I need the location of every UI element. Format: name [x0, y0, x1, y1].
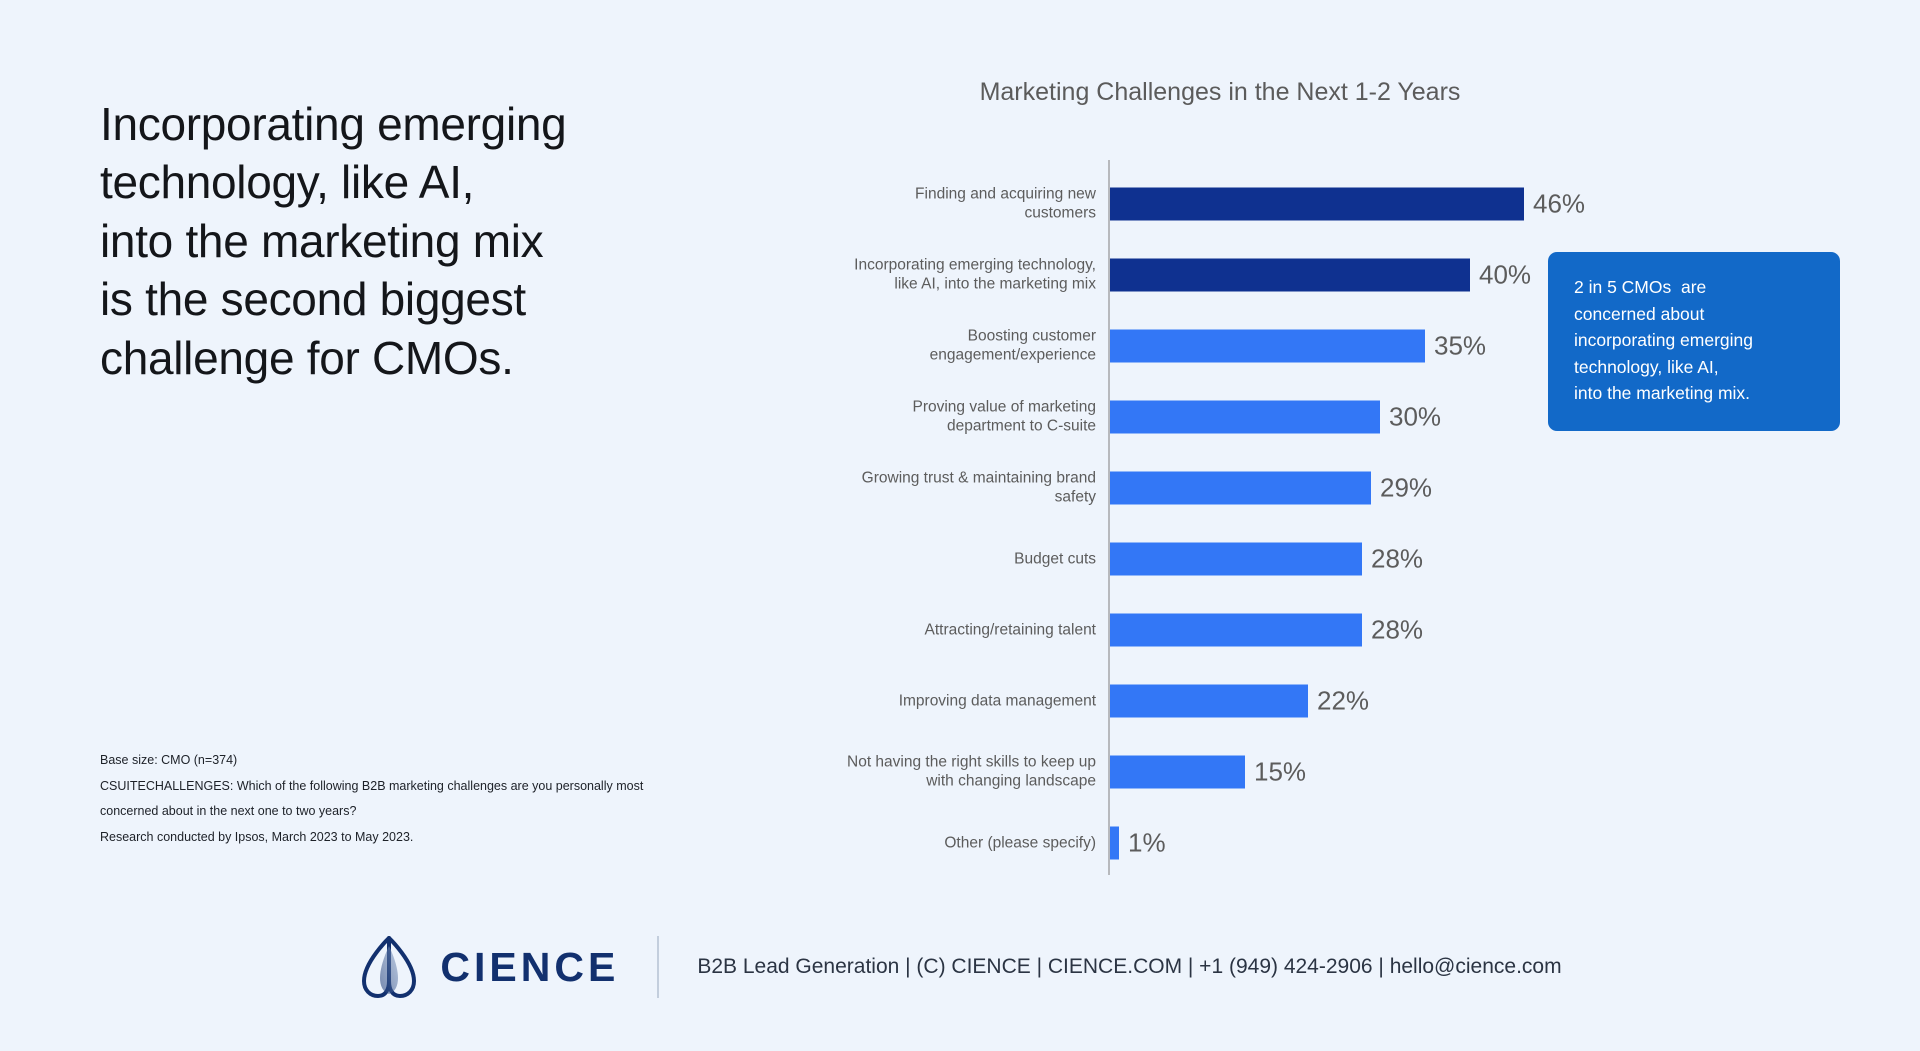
bar-value-label: 30% — [1389, 401, 1441, 432]
bar-category-label: Attracting/retaining talent — [846, 620, 1096, 639]
bar-category-label: Incorporating emerging technology, like … — [846, 255, 1096, 294]
bar-value-label: 28% — [1371, 543, 1423, 574]
bar-value-label: 28% — [1371, 614, 1423, 645]
footnote-question-line-2: concerned about in the next one to two y… — [100, 799, 680, 825]
bar-value-label: 15% — [1254, 756, 1306, 787]
chart-row: Proving value of marketing department to… — [830, 381, 1470, 452]
bar — [1110, 542, 1362, 575]
bar — [1110, 755, 1245, 788]
footnotes: Base size: CMO (n=374) CSUITECHALLENGES:… — [100, 748, 680, 851]
cience-arch-logo-icon — [358, 934, 420, 1000]
footnote-question-line-1: CSUITECHALLENGES: Which of the following… — [100, 774, 680, 800]
chart-row: Budget cuts28% — [830, 523, 1470, 594]
bar — [1110, 471, 1371, 504]
bar — [1110, 613, 1362, 646]
footnote-base-size: Base size: CMO (n=374) — [100, 748, 680, 774]
chart-row: Finding and acquiring new customers46% — [830, 168, 1470, 239]
bar — [1110, 187, 1524, 220]
callout-line-5: into the marketing mix. — [1574, 380, 1816, 407]
chart-row: Boosting customer engagement/experience3… — [830, 310, 1470, 381]
bar-category-label: Not having the right skills to keep up w… — [846, 752, 1096, 791]
bar — [1110, 400, 1380, 433]
bar-value-label: 35% — [1434, 330, 1486, 361]
chart-row: Growing trust & maintaining brand safety… — [830, 452, 1470, 523]
bar — [1110, 684, 1308, 717]
bar — [1110, 826, 1119, 859]
bar-value-label: 29% — [1380, 472, 1432, 503]
footer: CIENCE B2B Lead Generation | (C) CIENCE … — [0, 912, 1920, 1022]
footer-contact-line: B2B Lead Generation | (C) CIENCE | CIENC… — [697, 955, 1561, 979]
chart-row: Incorporating emerging technology, like … — [830, 239, 1470, 310]
bar — [1110, 258, 1470, 291]
bar-value-label: 46% — [1533, 188, 1585, 219]
chart-row: Attracting/retaining talent28% — [830, 594, 1470, 665]
callout-line-2: concerned about — [1574, 301, 1816, 328]
bar-value-label: 1% — [1128, 827, 1166, 858]
cience-logo: CIENCE — [358, 934, 619, 1000]
chart-row: Other (please specify)1% — [830, 807, 1470, 878]
bar-category-label: Other (please specify) — [846, 833, 1096, 852]
callout-line-3: incorporating emerging — [1574, 327, 1816, 354]
bar — [1110, 329, 1425, 362]
bar-category-label: Budget cuts — [846, 549, 1096, 568]
headline-line-4: is the second biggest — [100, 270, 800, 328]
bar-chart: Finding and acquiring new customers46%In… — [830, 160, 1470, 875]
headline: Incorporating emerging technology, like … — [100, 95, 800, 387]
headline-line-3: into the marketing mix — [100, 212, 800, 270]
chart-row: Improving data management22% — [830, 665, 1470, 736]
chart-title: Marketing Challenges in the Next 1-2 Yea… — [840, 78, 1600, 107]
bar-value-label: 22% — [1317, 685, 1369, 716]
bar-category-label: Proving value of marketing department to… — [846, 397, 1096, 436]
callout-line-1: 2 in 5 CMOs are — [1574, 274, 1816, 301]
cience-logo-text: CIENCE — [440, 944, 619, 991]
bar-category-label: Boosting customer engagement/experience — [846, 326, 1096, 365]
footnote-research-source: Research conducted by Ipsos, March 2023 … — [100, 825, 680, 851]
bar-category-label: Finding and acquiring new customers — [846, 184, 1096, 223]
bar-value-label: 40% — [1479, 259, 1531, 290]
chart-row: Not having the right skills to keep up w… — [830, 736, 1470, 807]
bar-category-label: Growing trust & maintaining brand safety — [846, 468, 1096, 507]
callout-box: 2 in 5 CMOs are concerned about incorpor… — [1548, 252, 1840, 431]
bar-category-label: Improving data management — [846, 691, 1096, 710]
footer-divider — [657, 936, 659, 998]
callout-line-4: technology, like AI, — [1574, 354, 1816, 381]
headline-line-1: Incorporating emerging — [100, 95, 800, 153]
headline-line-2: technology, like AI, — [100, 153, 800, 211]
headline-line-5: challenge for CMOs. — [100, 329, 800, 387]
